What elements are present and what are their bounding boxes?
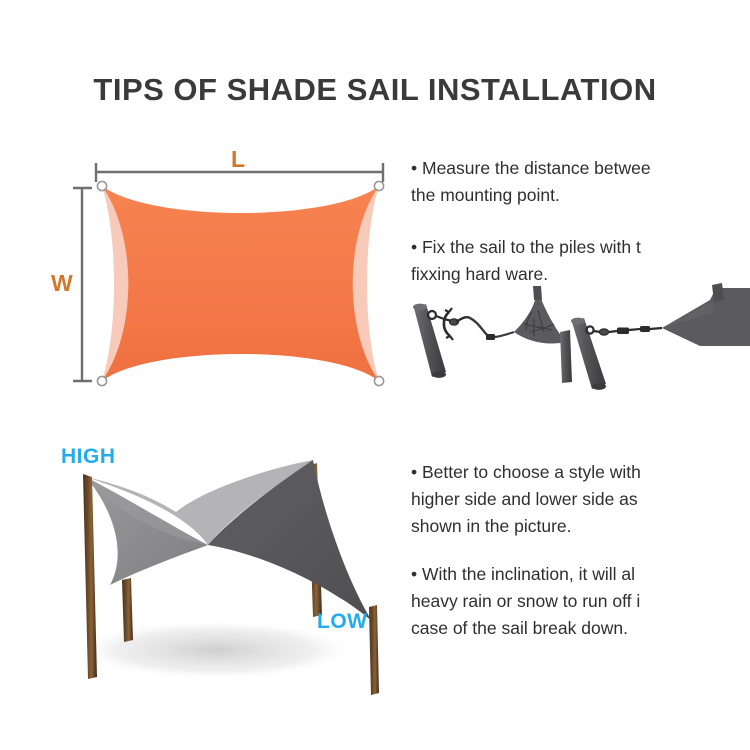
turnbuckle-left-1 <box>444 308 470 340</box>
tip-inclination-line-2: heavy rain or snow to run off i <box>411 588 640 614</box>
mounting-post-right-1 <box>571 318 606 390</box>
tip-style-line-1: • Better to choose a style with <box>411 459 641 485</box>
low-side-label: LOW <box>317 611 367 632</box>
hardware-illustration-right <box>571 283 750 390</box>
tip-fix-sail-line-2: fixxing hard ware. <box>411 261 548 287</box>
shade-sail-light <box>86 477 208 585</box>
tip-measure-line-2: the mounting point. <box>411 182 560 208</box>
sail-corner-left-1 <box>514 296 566 344</box>
tip-fix-sail-line-1: • Fix the sail to the piles with t <box>411 234 641 260</box>
tip-style-line-3: shown in the picture. <box>411 513 572 539</box>
diagram-layer <box>0 0 750 750</box>
width-dimension-label: W <box>51 272 73 295</box>
length-dimension-label: L <box>231 148 245 171</box>
mounting-post-left-2 <box>533 286 542 300</box>
width-dimension-line <box>73 188 92 381</box>
tip-inclination-line-1: • With the inclination, it will al <box>411 561 635 587</box>
sail-corner-right-1 <box>662 288 750 346</box>
eye-bolt-left-1 <box>428 311 444 319</box>
carabiner-chain-right <box>586 326 662 335</box>
high-side-label: HIGH <box>61 446 116 467</box>
tip-style-line-2: higher side and lower side as <box>411 486 638 512</box>
orange-shade-sail <box>102 186 379 381</box>
ground-shadow <box>75 620 355 680</box>
mounting-post-left-3 <box>560 330 572 383</box>
cable-clamp-left-1 <box>486 334 495 340</box>
mounting-post-right-2 <box>712 283 724 302</box>
hardware-illustration-left <box>413 286 572 383</box>
post-right-short <box>369 605 379 695</box>
connection-cable-left-1 <box>470 318 488 336</box>
mounting-post-left-1 <box>413 304 446 378</box>
infographic-page: TIPS OF SHADE SAIL INSTALLATION <box>0 0 750 750</box>
tip-measure-line-1: • Measure the distance betwee <box>411 155 651 181</box>
tip-inclination-line-3: case of the sail break down. <box>411 615 628 641</box>
